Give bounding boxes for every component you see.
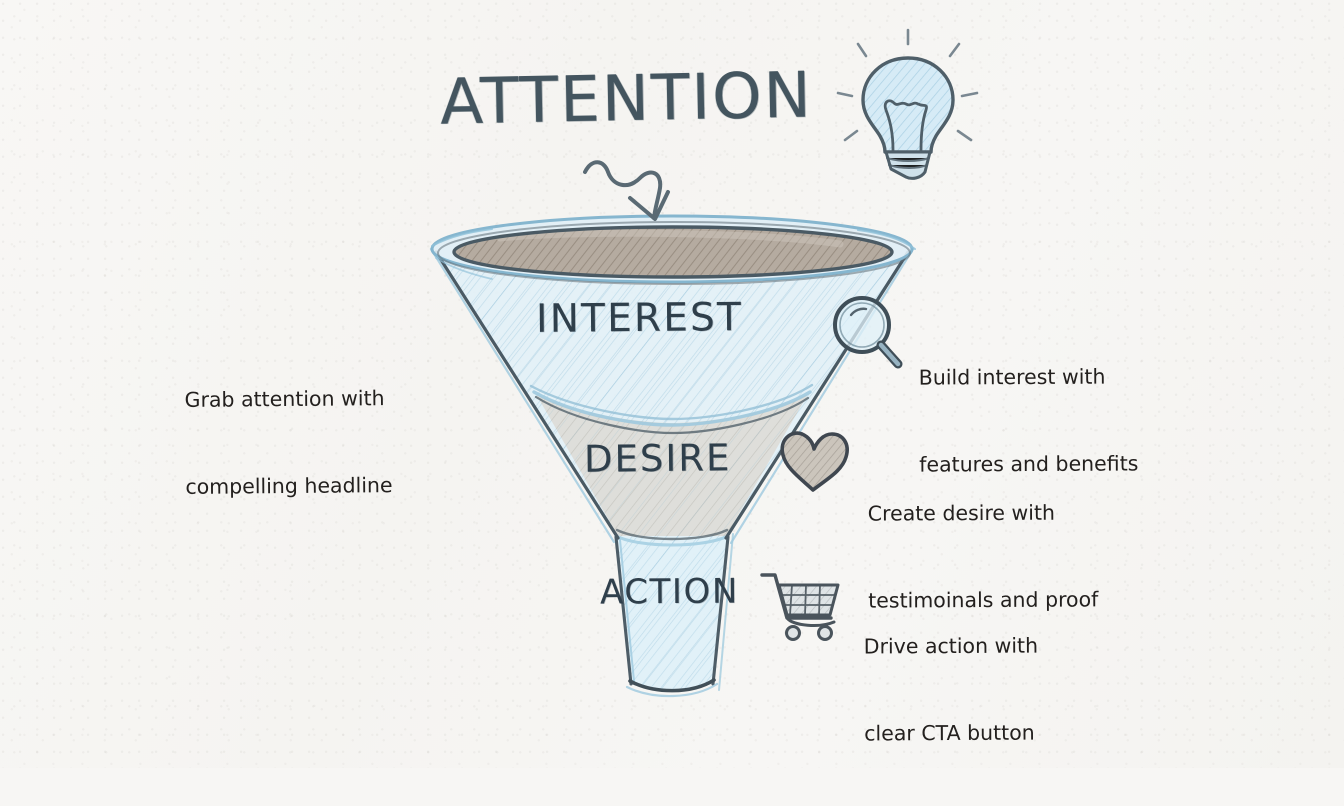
annotation-attention-line1: Grab attention with	[184, 384, 391, 415]
annotation-action-line1: Drive action with	[864, 632, 1038, 662]
funnel-label-action: ACTION	[600, 572, 739, 613]
annotation-interest-line1: Build interest with	[919, 362, 1138, 392]
funnel-stage-action	[616, 530, 733, 696]
annotation-desire-line1: Create desire with	[868, 498, 1098, 528]
page-title: ATTENTION	[439, 58, 813, 138]
heart-icon	[782, 433, 847, 490]
funnel-top-rim	[432, 216, 915, 284]
annotation-action-line2: clear CTA button	[864, 719, 1038, 749]
funnel-label-desire: DESIRE	[584, 436, 732, 481]
annotation-attention-line2: compelling headline	[185, 471, 392, 502]
shopping-cart-icon	[762, 575, 838, 640]
funnel-label-interest: INTEREST	[536, 295, 743, 342]
aida-funnel-diagram: ATTENTION INTEREST DESIRE ACTION Grab at…	[0, 0, 1344, 768]
annotation-action: Drive action with clear CTA button	[863, 574, 1038, 806]
curved-down-arrow-icon	[585, 162, 668, 219]
lightbulb-icon	[838, 30, 977, 178]
annotation-attention: Grab attention with compelling headline	[184, 326, 393, 560]
